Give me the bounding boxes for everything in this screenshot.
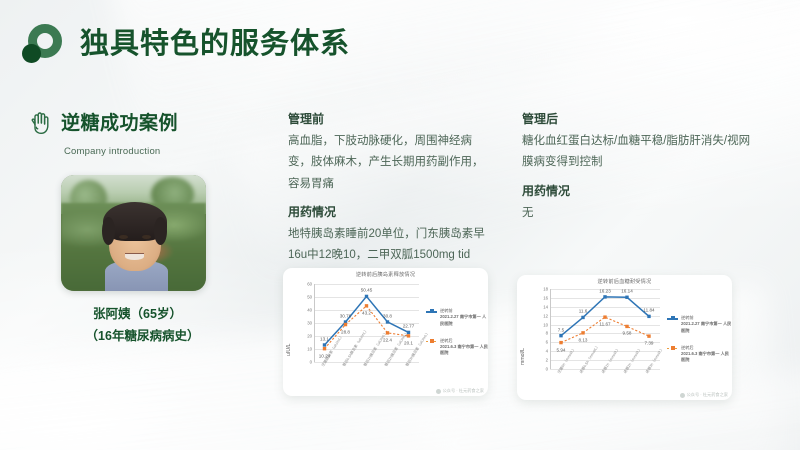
- watermark-icon: [436, 389, 441, 394]
- legend-sub-before: 2021.2.27 南宁市第一 人民医院: [681, 321, 732, 334]
- case-heading: 逆糖成功案例: [30, 108, 245, 135]
- y-axis-tick: 8: [546, 331, 548, 336]
- legend-line-dashed-icon: [667, 348, 678, 350]
- data-label: 30.76: [340, 314, 352, 319]
- series-marker: [581, 331, 584, 334]
- after-column: 管理后 糖化血红蛋白达标/血糖平稳/脂肪肝消失/视网膜病变得到控制 用药情况 无: [522, 108, 752, 224]
- page-title: 独具特色的服务体系: [80, 30, 350, 59]
- patient-photo: [61, 175, 206, 291]
- chart-ylabel: uIU/L: [286, 302, 292, 356]
- chart-ylabel: mmol/L: [520, 307, 526, 365]
- series-marker: [647, 315, 650, 318]
- data-label: 7.5: [558, 327, 564, 332]
- y-axis-tick: 4: [546, 349, 548, 354]
- legend-sub-before: 2021.2.27 南宁市第一 人民医院: [440, 314, 488, 327]
- slide-header: 独具特色的服务体系: [22, 22, 350, 66]
- before-heading: 管理前: [288, 108, 493, 130]
- data-label: 28.8: [341, 329, 350, 334]
- chart-title: 逆转前后胰岛素释放情况: [283, 271, 488, 278]
- y-axis-tick: 12: [543, 313, 548, 318]
- after-body: 糖化血红蛋白达标/血糖平稳/脂肪肝消失/视网膜病变得到控制: [522, 131, 752, 174]
- watermark: 公众号 · 杜元药食之家: [436, 388, 484, 394]
- legend-sub-after: 2021.6.3 南宁市第一 人民医院: [681, 351, 732, 364]
- data-label: 5.94: [557, 347, 566, 352]
- data-label: 43.2: [362, 310, 371, 315]
- y-axis-tick: 14: [543, 304, 548, 309]
- y-axis-tick: 30: [307, 321, 312, 326]
- legend-line-solid-icon: [426, 311, 437, 313]
- case-subtitle: 逆糖成功案例: [61, 108, 178, 135]
- watermark: 公众号 · 杜元药食之家: [680, 392, 728, 398]
- y-axis-tick: 0: [546, 367, 548, 372]
- y-axis-tick: 16: [543, 295, 548, 300]
- data-label: 11.6: [579, 309, 588, 314]
- patient-history: （16年糖尿病病史）: [40, 326, 245, 348]
- after-heading: 管理后: [522, 108, 752, 130]
- y-axis-tick: 20: [307, 334, 312, 339]
- data-label: 50.45: [361, 288, 373, 293]
- series-marker: [647, 334, 650, 337]
- data-label: 9.58: [623, 331, 632, 336]
- series-marker: [625, 325, 628, 328]
- patient-caption: 张阿姨（65岁） （16年糖尿病病史）: [30, 304, 245, 348]
- y-axis-tick: 18: [543, 287, 548, 292]
- case-english-subtitle: Company introduction: [64, 146, 245, 157]
- y-axis-tick: 50: [307, 295, 312, 300]
- after-med-heading: 用药情况: [522, 180, 752, 202]
- case-panel: 逆糖成功案例 Company introduction 张阿姨（65岁） （16…: [30, 108, 245, 348]
- series-marker: [365, 295, 368, 298]
- legend-line-solid-icon: [667, 318, 678, 320]
- before-body: 高血脂，下肢动脉硬化，周围神经病变，肢体麻木，产生长期用药副作用，容易胃痛: [288, 131, 493, 195]
- glucose-chart: 逆转前后血糖耐受情况 mmol/L 024681012141618 逆转前 20…: [517, 275, 732, 400]
- data-label: 22.77: [403, 324, 415, 329]
- series-marker: [603, 295, 606, 298]
- before-med-body: 地特胰岛素睡前20单位，门东胰岛素早16u中12晚10，二甲双胍1500mg t…: [288, 224, 493, 267]
- insulin-chart-card: 逆转前后胰岛素释放情况 uIU/L 0102030405060 逆转前 2021…: [283, 268, 488, 396]
- series-marker: [625, 296, 628, 299]
- y-axis-tick: 60: [307, 282, 312, 287]
- slide-canvas: 独具特色的服务体系 逆糖成功案例 Company introduction: [0, 0, 800, 450]
- y-axis-tick: 10: [543, 322, 548, 327]
- data-label: 20.1: [404, 340, 413, 345]
- series-marker: [581, 316, 584, 319]
- watermark-icon: [680, 393, 685, 398]
- glucose-chart-card: 逆转前后血糖耐受情况 mmol/L 024681012141618 逆转前 20…: [517, 275, 732, 400]
- series-marker: [559, 334, 562, 337]
- y-axis-tick: 10: [307, 347, 312, 352]
- data-label: 11.67: [599, 322, 610, 327]
- chart-title: 逆转前后血糖耐受情况: [517, 278, 732, 285]
- series-marker: [559, 341, 562, 344]
- chart-legend: 逆转前 2021.2.27 南宁市第一 人民医院 逆转后 2021.6.3 南宁: [667, 315, 732, 364]
- data-label: 11.84: [643, 308, 654, 313]
- y-axis-tick: 40: [307, 308, 312, 313]
- after-med-body: 无: [522, 203, 752, 224]
- legend-line-dashed-icon: [426, 341, 437, 343]
- before-column: 管理前 高血脂，下肢动脉硬化，周围神经病变，肢体麻木，产生长期用药副作用，容易胃…: [288, 108, 493, 267]
- data-label: 30.8: [383, 313, 392, 318]
- hand-palm-icon: [30, 109, 52, 135]
- data-label: 16.23: [599, 288, 611, 293]
- data-label: 7.39: [645, 341, 654, 346]
- y-axis-tick: 6: [546, 340, 548, 345]
- data-label: 8.13: [579, 337, 588, 342]
- insulin-chart: 逆转前后胰岛素释放情况 uIU/L 0102030405060 逆转前 2021…: [283, 268, 488, 396]
- chart-legend: 逆转前 2021.2.27 南宁市第一 人民医院 逆转后 2021.6.3 南宁: [426, 308, 488, 357]
- series-marker: [386, 320, 389, 323]
- data-label: 16.14: [621, 289, 633, 294]
- legend-sub-after: 2021.6.3 南宁市第一 人民医院: [440, 344, 488, 357]
- series-marker: [323, 343, 326, 346]
- ring-dot-logo-icon: [22, 22, 66, 66]
- patient-name-age: 张阿姨（65岁）: [30, 304, 245, 326]
- before-med-heading: 用药情况: [288, 201, 493, 223]
- y-axis-tick: 0: [310, 360, 312, 365]
- series-marker: [323, 347, 326, 350]
- series-marker: [344, 323, 347, 326]
- series-marker: [365, 304, 368, 307]
- y-axis-tick: 2: [546, 358, 548, 363]
- data-label: 13.1: [320, 336, 329, 341]
- series-marker: [603, 315, 606, 318]
